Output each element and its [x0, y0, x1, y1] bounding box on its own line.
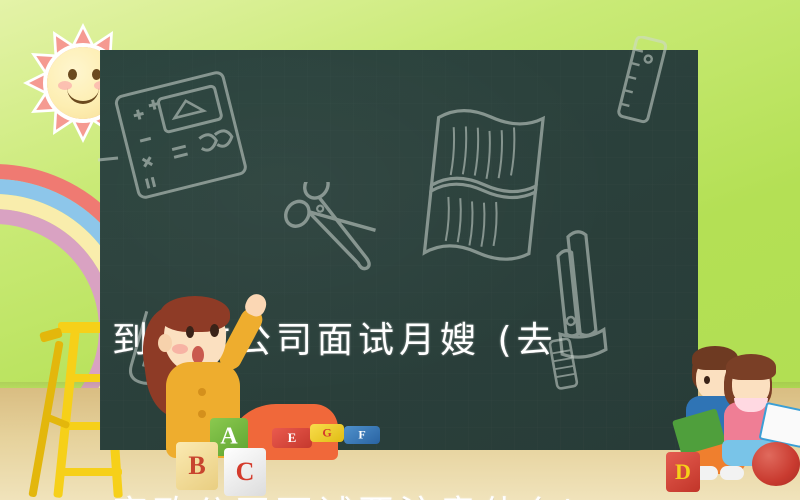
- toy-block-g-letter: G: [310, 426, 344, 441]
- toy-block-b: B: [176, 442, 218, 490]
- toy-block-c: C: [224, 448, 266, 496]
- girl-hair-fringe: [160, 296, 230, 332]
- toy-block-d-letter: D: [666, 459, 700, 485]
- toy-block-e: E: [272, 428, 312, 448]
- toy-block-f-letter: F: [344, 428, 380, 443]
- toy-block-e-letter: E: [272, 430, 312, 446]
- toy-block-b-letter: B: [176, 451, 218, 481]
- toy-block-g: G: [310, 424, 344, 442]
- toy-block-f: F: [344, 426, 380, 444]
- ruler-drawing: [602, 36, 712, 136]
- cover-image-scene: 到家政公司面试月嫂 (去 家政公司面试要注意什么): [0, 0, 800, 500]
- toy-block-d: D: [666, 452, 700, 492]
- girl-ear: [158, 334, 172, 352]
- red-ball: [752, 442, 800, 486]
- toy-block-c-letter: C: [224, 457, 266, 487]
- chalk-mark-small: [94, 150, 134, 170]
- calculator-drawing: [110, 68, 260, 203]
